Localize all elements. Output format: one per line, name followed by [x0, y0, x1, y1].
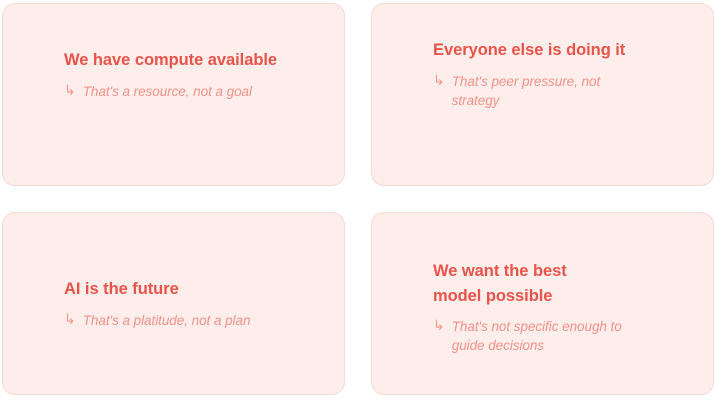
arrow-down-right-icon: ↳	[433, 72, 445, 91]
card-title: We have compute available	[64, 48, 279, 73]
card-everyone-else-is-doing-it: Everyone else is doing it ↳ That's peer …	[371, 3, 714, 186]
card-grid: We have compute available ↳ That's a res…	[0, 0, 716, 401]
arrow-down-right-icon: ↳	[433, 317, 445, 336]
card-we-have-compute-available: We have compute available ↳ That's a res…	[2, 3, 345, 186]
arrow-down-right-icon: ↳	[64, 82, 76, 101]
card-note-text: That's peer pressure, not strategy	[452, 72, 633, 110]
card-title: Everyone else is doing it	[433, 38, 651, 63]
card-note-text: That's not specific enough to guide deci…	[452, 317, 639, 355]
card-ai-is-the-future: AI is the future ↳ That's a platitude, n…	[2, 212, 345, 395]
card-note: ↳ That's a platitude, not a plan	[64, 311, 279, 330]
card-note: ↳ That's peer pressure, not strategy	[433, 72, 633, 110]
card-note-text: That's a platitude, not a plan	[83, 311, 251, 330]
card-title: AI is the future	[64, 277, 279, 302]
card-we-want-the-best-model-possible: We want the best model possible ↳ That's…	[371, 212, 714, 395]
card-note: ↳ That's a resource, not a goal	[64, 82, 279, 101]
card-title: We want the best model possible	[433, 259, 613, 308]
card-note-text: That's a resource, not a goal	[83, 82, 252, 101]
card-note: ↳ That's not specific enough to guide de…	[433, 317, 639, 355]
arrow-down-right-icon: ↳	[64, 311, 76, 330]
